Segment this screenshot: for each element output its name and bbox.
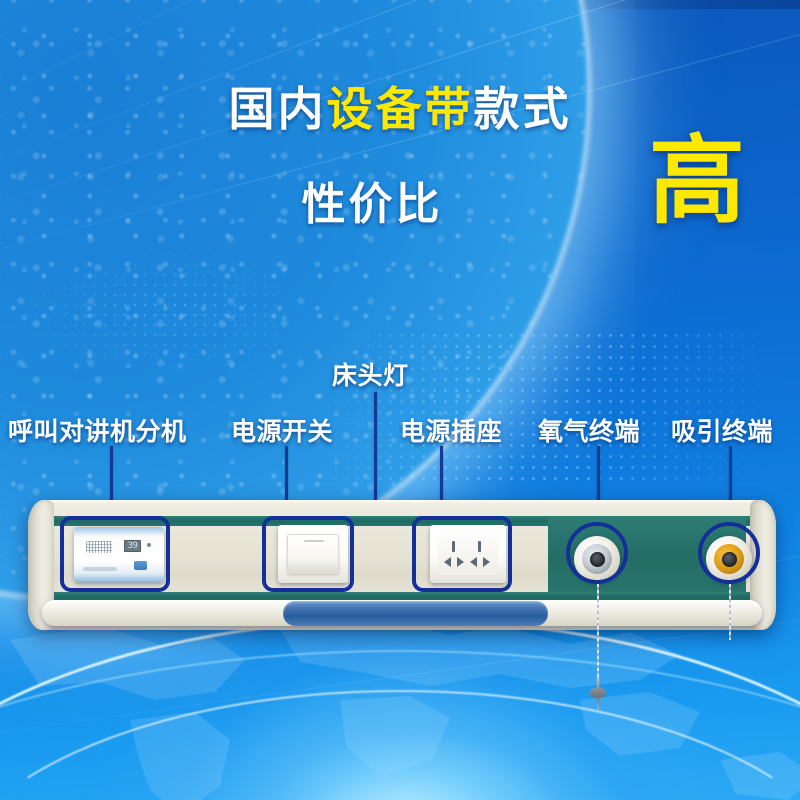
medical-bedhead-panel: 39 bbox=[28, 500, 776, 630]
suction-terminal-face bbox=[714, 544, 744, 574]
socket-pin-angled-left-a bbox=[444, 557, 451, 567]
call-button[interactable] bbox=[134, 561, 147, 570]
intercom-vent-slot bbox=[83, 567, 117, 571]
suction-pull-cord bbox=[729, 578, 731, 640]
oxygen-pull-cord bbox=[597, 578, 599, 682]
callout-label-suction: 吸引终端 bbox=[671, 412, 773, 448]
suction-terminal-port bbox=[722, 552, 737, 567]
background-scene bbox=[0, 0, 800, 800]
bed-lamp-diffuser[interactable] bbox=[283, 601, 548, 626]
speaker-grille-icon bbox=[86, 541, 112, 553]
bottom-glow bbox=[160, 660, 640, 800]
socket-pin-vertical-right bbox=[478, 541, 481, 552]
callout-label-oxygen: 氧气终端 bbox=[538, 412, 640, 448]
callout-label-power-socket: 电源插座 bbox=[400, 412, 502, 448]
socket-pin-angled-right-b bbox=[483, 557, 490, 567]
suction-terminal[interactable] bbox=[706, 536, 752, 582]
rocker-toggle[interactable] bbox=[287, 534, 339, 574]
socket-pin-vertical-left bbox=[452, 541, 455, 552]
power-switch[interactable] bbox=[278, 525, 348, 583]
callout-label-bed-lamp: 床头灯 bbox=[332, 356, 409, 392]
oxygen-terminal-face bbox=[582, 544, 612, 574]
socket-pin-angled-left-b bbox=[457, 557, 464, 567]
intercom-display: 39 bbox=[124, 540, 141, 552]
nurse-call-intercom[interactable]: 39 bbox=[74, 527, 164, 582]
callout-label-power-switch: 电源开关 bbox=[231, 412, 333, 448]
oxygen-terminal[interactable] bbox=[574, 536, 620, 582]
socket-face bbox=[438, 533, 498, 575]
indicator-led-icon bbox=[147, 543, 151, 547]
socket-pin-angled-right-a bbox=[470, 557, 477, 567]
oxygen-terminal-port bbox=[590, 552, 605, 567]
callout-label-intercom: 呼叫对讲机分机 bbox=[8, 412, 187, 448]
power-socket[interactable] bbox=[430, 525, 506, 583]
